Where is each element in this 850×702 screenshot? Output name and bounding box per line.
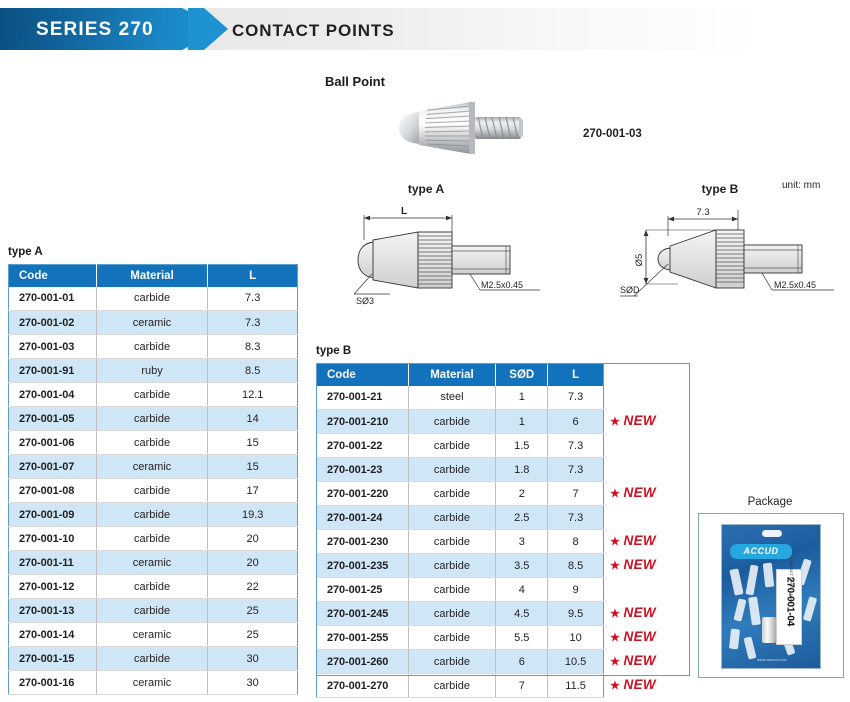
contact-point-metal-sample [762,617,776,643]
new-badge-cell: ★ NEW [610,529,690,553]
new-badge-cell: ★ NEW [610,481,690,505]
cell-sod: 6 [496,650,548,674]
type-b-technical-drawing: type B 7.3 Ø5 [620,180,846,310]
table-row: 270-001-05carbide14 [9,407,298,431]
cell-sod: 4 [496,578,548,602]
cell-sod: 7 [496,674,548,698]
cell-code: 270-001-08 [9,479,97,503]
cell-code: 270-001-03 [9,335,97,359]
star-icon: ★ [610,656,624,668]
cell-l: 6 [548,410,604,434]
table-row: 270-001-09carbide19.3 [9,503,298,527]
cell-code: 270-001-220 [317,482,409,506]
cell-l: 11.5 [548,674,604,698]
series-label: SERIES 270 [36,19,154,41]
contact-point-tip [733,598,746,621]
ball-point-heading: Ball Point [325,74,385,89]
new-badge-label: NEW [624,485,656,500]
cell-code: 270-001-14 [9,623,97,647]
table-row: 270-001-11ceramic20 [9,551,298,575]
new-badge: ★ NEW [610,533,656,548]
cell-material: ruby [96,359,208,383]
cell-material: carbide [408,554,496,578]
star-icon: ★ [610,488,624,500]
cell-l: 20 [208,527,298,551]
cell-code: 270-001-10 [9,527,97,551]
cell-code: 270-001-23 [317,458,409,482]
cell-material: carbide [96,599,208,623]
cell-l: 7.3 [548,434,604,458]
cell-material: carbide [408,602,496,626]
cell-code: 270-001-260 [317,650,409,674]
cell-material: carbide [96,335,208,359]
new-badge-empty [610,577,690,601]
cell-l: 7.3 [208,287,298,311]
table-a-col-code: Code [9,265,97,287]
new-badge-label: NEW [624,653,656,668]
cell-code: 270-001-210 [317,410,409,434]
type-b-dim-diameter: Ø5 [634,254,645,267]
table-row: 270-001-13carbide25 [9,599,298,623]
cell-code: 270-001-25 [317,578,409,602]
table-b-col-l: L [548,364,604,386]
cell-material: carbide [408,434,496,458]
type-a-spec-table: Code Material L 270-001-01carbide7.3270-… [8,264,298,695]
cell-sod: 3.5 [496,554,548,578]
cell-l: 15 [208,431,298,455]
table-b-col-sod: SØD [496,364,548,386]
cell-l: 15 [208,455,298,479]
cell-code: 270-001-12 [9,575,97,599]
table-a-col-l: L [208,265,298,287]
cell-material: carbide [96,575,208,599]
cell-code: 270-001-01 [9,287,97,311]
contact-point-tip [729,629,740,650]
blister-hang-hole [762,530,782,537]
page-title: CONTACT POINTS [232,21,394,41]
table-row: 270-001-24carbide2.57.3 [317,506,604,530]
type-a-technical-drawing: type A L [340,182,550,310]
cell-l: 7.3 [548,506,604,530]
type-b-dim-ball: SØD [620,285,640,295]
cell-code: 270-001-21 [317,386,409,410]
cell-material: ceramic [96,623,208,647]
table-a-header-row: Code Material L [9,265,298,287]
table-row: 270-001-14ceramic25 [9,623,298,647]
package-website: www.accud.com [722,658,821,662]
cell-material: ceramic [96,551,208,575]
cell-l: 9 [548,578,604,602]
new-badge-label: NEW [624,533,656,548]
cell-l: 19.3 [208,503,298,527]
new-badge-cell: ★ NEW [610,649,690,673]
table-row: 270-001-07ceramic15 [9,455,298,479]
table-row: 270-001-235carbide3.58.5 [317,554,604,578]
cell-l: 10 [548,626,604,650]
type-b-spec-table: Code Material SØD L 270-001-21steel17.32… [316,363,604,698]
cell-sod: 1 [496,386,548,410]
cell-code: 270-001-245 [317,602,409,626]
cell-material: carbide [96,431,208,455]
cell-code: 270-001-255 [317,626,409,650]
cell-sod: 4.5 [496,602,548,626]
cell-material: ceramic [96,455,208,479]
cell-material: carbide [408,674,496,698]
cell-material: carbide [96,407,208,431]
cell-l: 25 [208,623,298,647]
contact-point-tip [743,636,756,659]
cell-code: 270-001-02 [9,311,97,335]
table-row: 270-001-210carbide16 [317,410,604,434]
table-row: 270-001-91ruby8.5 [9,359,298,383]
table-row: 270-001-230carbide38 [317,530,604,554]
package-product-name: CONTACT POINT 2.5mm [789,542,793,618]
cell-l: 10.5 [548,650,604,674]
cell-code: 270-001-235 [317,554,409,578]
table-row: 270-001-21steel17.3 [317,386,604,410]
cell-sod: 1.5 [496,434,548,458]
star-icon: ★ [610,632,624,644]
cell-l: 12.1 [208,383,298,407]
type-a-dim-L: L [401,206,407,217]
cell-l: 22 [208,575,298,599]
cell-sod: 2.5 [496,506,548,530]
ball-point-product-photo [393,88,553,168]
contact-point-tip [763,563,774,588]
cell-material: carbide [408,458,496,482]
cell-material: carbide [408,626,496,650]
table-row: 270-001-245carbide4.59.5 [317,602,604,626]
cell-l: 8.5 [548,554,604,578]
table-row: 270-001-08carbide17 [9,479,298,503]
cell-sod: 1 [496,410,548,434]
new-badge-label: NEW [624,557,656,572]
table-row: 270-001-23carbide1.87.3 [317,458,604,482]
type-a-dim-ball: SØ3 [356,296,374,306]
contact-point-tip [745,565,758,596]
cell-code: 270-001-230 [317,530,409,554]
new-badge-empty [610,457,690,481]
new-flag-header-spacer [610,363,690,385]
new-badge-label: NEW [624,629,656,644]
table-a-body: 270-001-01carbide7.3270-001-02ceramic7.3… [9,287,298,695]
cell-material: carbide [408,506,496,530]
cell-material: carbide [408,578,496,602]
new-badge-label: NEW [624,605,656,620]
table-b-caption: type B [316,345,351,357]
cell-code: 270-001-13 [9,599,97,623]
cell-code: 270-001-11 [9,551,97,575]
new-badge: ★ NEW [610,629,656,644]
page-header-bar: SERIES 270 CONTACT POINTS [0,8,850,50]
table-row: 270-001-04carbide12.1 [9,383,298,407]
cell-code: 270-001-09 [9,503,97,527]
table-b-body: 270-001-21steel17.3270-001-210carbide162… [317,386,604,698]
cell-material: carbide [408,482,496,506]
table-row: 270-001-16ceramic30 [9,671,298,695]
cell-material: ceramic [96,671,208,695]
cell-l: 7.3 [548,458,604,482]
new-badge: ★ NEW [610,653,656,668]
contact-point-tip [729,568,743,595]
type-b-dim-length: 7.3 [696,207,709,218]
cell-material: carbide [96,383,208,407]
cell-material: steel [408,386,496,410]
photo-product-code: 270-001-03 [583,128,642,140]
table-row: 270-001-10carbide20 [9,527,298,551]
cell-l: 7.3 [548,386,604,410]
blister-product-label: 270-001-04 CONTACT POINT 2.5mm [776,569,802,645]
cell-sod: 2 [496,482,548,506]
new-badge-cell: ★ NEW [610,409,690,433]
table-row: 270-001-255carbide5.510 [317,626,604,650]
table-row: 270-001-01carbide7.3 [9,287,298,311]
table-row: 270-001-15carbide30 [9,647,298,671]
contact-point-tip [748,597,761,626]
cell-l: 20 [208,551,298,575]
table-row: 270-001-02ceramic7.3 [9,311,298,335]
table-row: 270-001-06carbide15 [9,431,298,455]
table-b-header-row: Code Material SØD L [317,364,604,386]
cell-l: 8.3 [208,335,298,359]
cell-code: 270-001-06 [9,431,97,455]
table-row: 270-001-220carbide27 [317,482,604,506]
new-badge-empty [610,385,690,409]
table-row: 270-001-260carbide610.5 [317,650,604,674]
new-badge-label: NEW [624,413,656,428]
cell-material: carbide [408,410,496,434]
package-label: Package [700,496,840,508]
brand-logo: ACCUD [730,544,792,559]
table-row: 270-001-22carbide1.57.3 [317,434,604,458]
cell-material: carbide [96,647,208,671]
table-b-col-code: Code [317,364,409,386]
type-b-drawing-title: type B [660,182,780,196]
new-badge-label: NEW [624,677,656,692]
cell-material: carbide [408,650,496,674]
type-a-drawing-title: type A [366,182,486,196]
cell-l: 17 [208,479,298,503]
star-icon: ★ [610,560,624,572]
package-photo-frame: ACCUD 270-001-04 CONTACT POINT 2.5mm www… [698,513,844,678]
blister-pack-photo: ACCUD 270-001-04 CONTACT POINT 2.5mm www… [721,524,821,669]
table-a-col-material: Material [96,265,208,287]
table-row: 270-001-12carbide22 [9,575,298,599]
cell-material: carbide [96,479,208,503]
table-b-new-flag-column: ★ NEW★ NEW★ NEW★ NEW★ NEW★ NEW★ NEW★ NEW [610,363,690,697]
cell-l: 14 [208,407,298,431]
cell-l: 8 [548,530,604,554]
cell-l: 9.5 [548,602,604,626]
star-icon: ★ [610,680,624,692]
cell-code: 270-001-270 [317,674,409,698]
cell-material: carbide [96,503,208,527]
cell-code: 270-001-16 [9,671,97,695]
new-badge-cell: ★ NEW [610,625,690,649]
cell-l: 8.5 [208,359,298,383]
cell-l: 30 [208,647,298,671]
new-badge: ★ NEW [610,677,656,692]
table-a-caption: type A [8,246,43,258]
cell-material: carbide [96,287,208,311]
cell-code: 270-001-24 [317,506,409,530]
table-row: 270-001-270carbide711.5 [317,674,604,698]
cell-code: 270-001-05 [9,407,97,431]
cell-l: 30 [208,671,298,695]
new-badge-cell: ★ NEW [610,673,690,697]
cell-sod: 3 [496,530,548,554]
table-b-col-material: Material [408,364,496,386]
type-b-thread-label: M2.5x0.45 [774,280,816,290]
contact-point-tip [803,596,817,621]
new-badge: ★ NEW [610,413,656,428]
cell-l: 7 [548,482,604,506]
cell-material: carbide [96,527,208,551]
cell-sod: 1.8 [496,458,548,482]
cell-l: 7.3 [208,311,298,335]
table-row: 270-001-03carbide8.3 [9,335,298,359]
cell-l: 25 [208,599,298,623]
cell-material: carbide [408,530,496,554]
new-badge: ★ NEW [610,605,656,620]
new-badge: ★ NEW [610,485,656,500]
new-badge-empty [610,433,690,457]
new-badge-cell: ★ NEW [610,553,690,577]
type-a-thread-label: M2.5x0.45 [481,280,523,290]
cell-code: 270-001-91 [9,359,97,383]
table-row: 270-001-25carbide49 [317,578,604,602]
new-badge-cell: ★ NEW [610,601,690,625]
new-badge-empty [610,505,690,529]
star-icon: ★ [610,536,624,548]
cell-code: 270-001-07 [9,455,97,479]
cell-code: 270-001-04 [9,383,97,407]
cell-material: ceramic [96,311,208,335]
star-icon: ★ [610,416,624,428]
cell-sod: 5.5 [496,626,548,650]
star-icon: ★ [610,608,624,620]
cell-code: 270-001-22 [317,434,409,458]
cell-code: 270-001-15 [9,647,97,671]
new-badge: ★ NEW [610,557,656,572]
